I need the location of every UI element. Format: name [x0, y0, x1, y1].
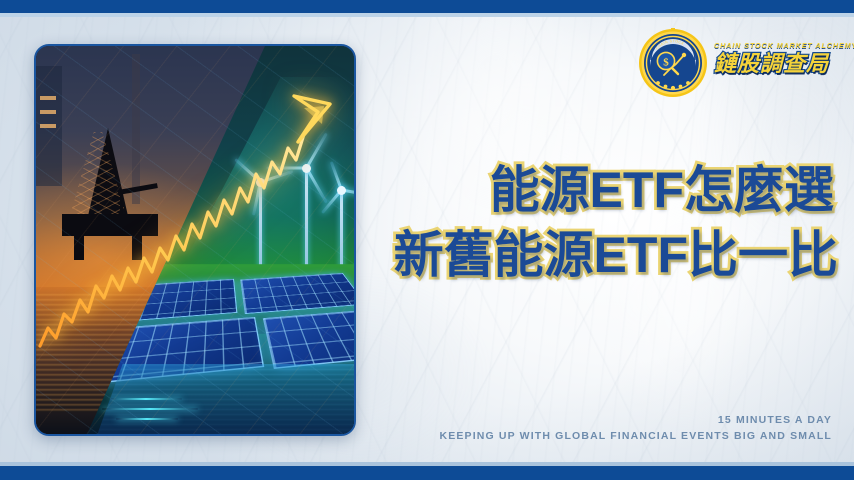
bottom-brand-bar	[0, 466, 854, 480]
tagline-line-2: KEEPING UP WITH GLOBAL FINANCIAL EVENTS …	[440, 428, 833, 444]
wordmark-english: CHAIN STOCK MARKET ALCHEMY	[714, 42, 834, 49]
title-line-1: 能源ETF怎麼選	[330, 158, 838, 223]
golden-rising-arrow-chart	[36, 46, 354, 434]
video-thumbnail: $ CHAIN STOCK CHAIN STOCK MARKET ALCHEMY	[0, 0, 854, 480]
tagline-block: 15 MINUTES A DAY KEEPING UP WITH GLOBAL …	[440, 412, 833, 445]
brand-wordmark: CHAIN STOCK MARKET ALCHEMY 鏈股調查局	[714, 42, 834, 75]
wordmark-chinese: 鏈股調查局	[714, 52, 834, 75]
top-brand-bar	[0, 0, 854, 13]
svg-text:$: $	[663, 56, 669, 68]
brand-logo[interactable]: $ CHAIN STOCK CHAIN STOCK MARKET ALCHEMY	[638, 28, 834, 98]
chain-stock-market-alchemy-badge-icon: $ CHAIN STOCK	[638, 28, 708, 98]
hero-image	[36, 46, 354, 434]
title-line-2: 新舊能源ETF比一比	[330, 223, 838, 288]
top-brand-bar-accent	[0, 13, 854, 17]
title-block: 能源ETF怎麼選 新舊能源ETF比一比	[330, 158, 838, 288]
tagline-line-1: 15 MINUTES A DAY	[440, 412, 833, 428]
hero-image-card	[34, 44, 356, 436]
